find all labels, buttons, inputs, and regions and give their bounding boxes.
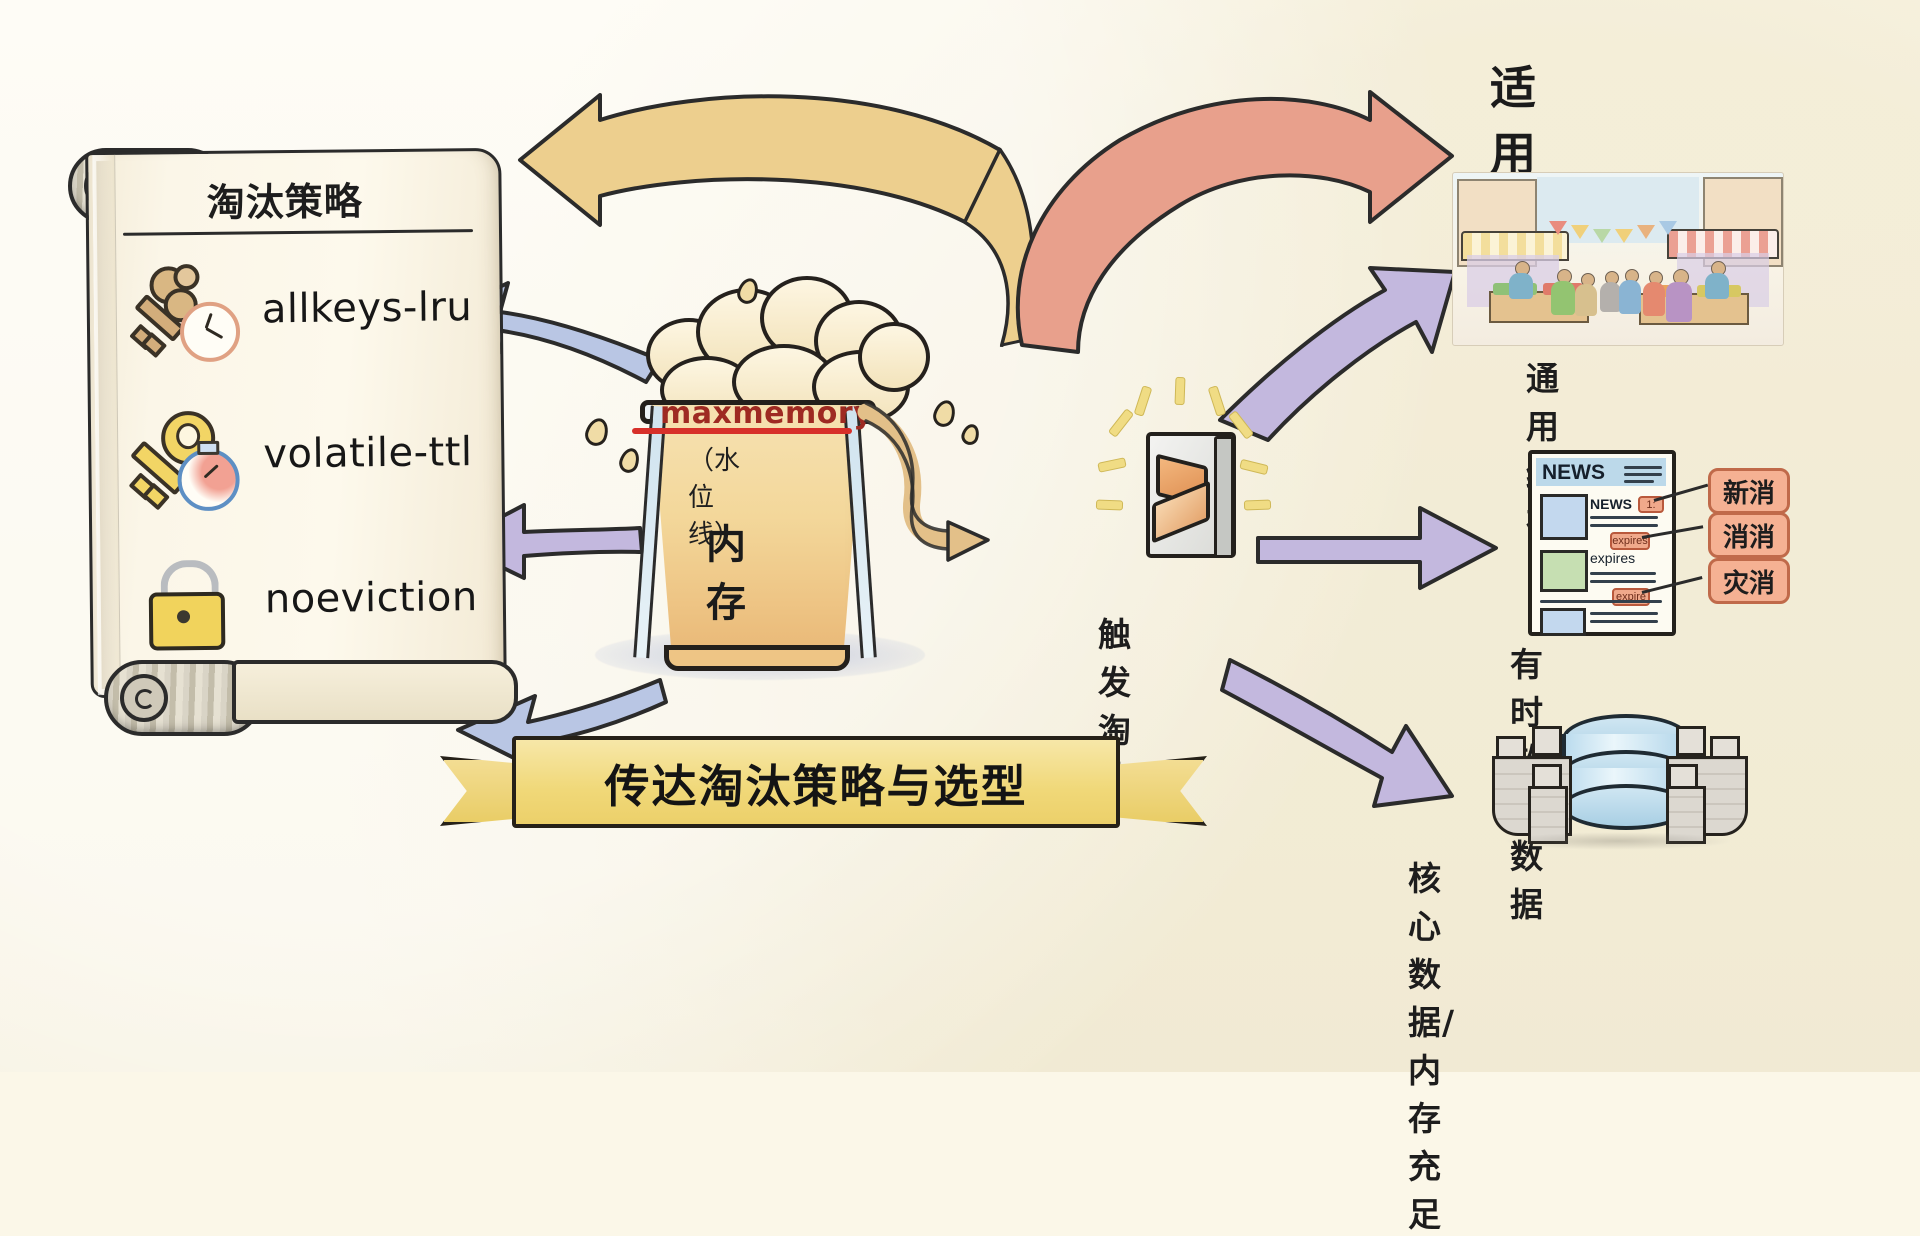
scroll-inner-edge <box>92 155 121 695</box>
key-stopwatch-icon <box>131 409 242 502</box>
news-masthead: NEWS <box>1542 461 1605 485</box>
policy-item-noeviction[interactable]: noeviction <box>132 551 478 647</box>
news-thumbnail <box>1540 494 1588 540</box>
policy-label: allkeys-lru <box>262 284 473 332</box>
glass-vessel <box>645 405 870 660</box>
scroll-sheet: 淘汰策略 allkeys-lru <box>85 148 507 698</box>
switch-ray <box>1108 408 1134 438</box>
news-thumbnail <box>1540 550 1588 592</box>
news-article-title: NEWS <box>1590 496 1632 512</box>
switch-ray <box>1097 457 1126 473</box>
diagram-canvas: 淘汰策略 allkeys-lru <box>0 0 1920 1072</box>
scroll-tail <box>232 660 518 724</box>
policy-label: volatile-ttl <box>263 429 473 477</box>
glass-base <box>664 645 850 671</box>
padlock-icon <box>132 554 243 647</box>
news-callout: 新消 <box>1708 468 1790 514</box>
arrow-to-general-cache <box>1220 268 1455 440</box>
banner-ribbon: 传达淘汰策略与选型 <box>512 736 1120 828</box>
news-callout: 灾消 <box>1708 558 1790 604</box>
switch-ray <box>1175 377 1186 405</box>
fortress-database-icon <box>1470 700 1760 848</box>
foam-drop <box>959 422 982 447</box>
news-expires-label: expires <box>1590 550 1635 566</box>
foam-drop <box>582 415 612 448</box>
switch-ray <box>1244 500 1271 511</box>
arrow-to-core-data <box>1222 660 1452 806</box>
scroll-title: 淘汰策略 <box>206 170 363 227</box>
news-thumbnail <box>1540 608 1586 636</box>
memory-label: 内存 <box>706 512 746 628</box>
arrow-to-time-sensitive-data <box>1258 508 1496 588</box>
switch-ray <box>1096 500 1123 511</box>
policy-item-allkeys-lru[interactable]: allkeys-lru <box>129 261 472 357</box>
policy-item-volatile-ttl[interactable]: volatile-ttl <box>131 406 473 502</box>
news-panel-icon: NEWS NEWS 1: expires expires expire <box>1528 450 1676 636</box>
scroll-divider <box>123 229 473 236</box>
market-scene-icon <box>1452 172 1784 346</box>
key-clock-icon <box>129 264 240 357</box>
scenario-caption: 核心数据/内存充足 <box>1408 852 1470 1236</box>
news-callout: 消消 <box>1708 512 1790 558</box>
foam-drop <box>930 397 958 429</box>
switch-ray <box>1239 459 1269 475</box>
switch-ray <box>1134 385 1153 417</box>
light-switch-plate-shadow <box>1214 436 1234 558</box>
maxmemory-label: maxmemory <box>660 396 873 431</box>
switch-ray <box>1208 385 1227 417</box>
arrow-salmon-top-right <box>1018 92 1452 352</box>
foam-drop <box>617 446 643 476</box>
stopwatch-icon <box>177 449 240 512</box>
policy-label: noeviction <box>265 574 478 622</box>
banner-text: 传达淘汰策略与选型 <box>604 750 1027 815</box>
glass-left-wall <box>633 406 667 659</box>
scroll-curl-icon <box>120 674 168 722</box>
